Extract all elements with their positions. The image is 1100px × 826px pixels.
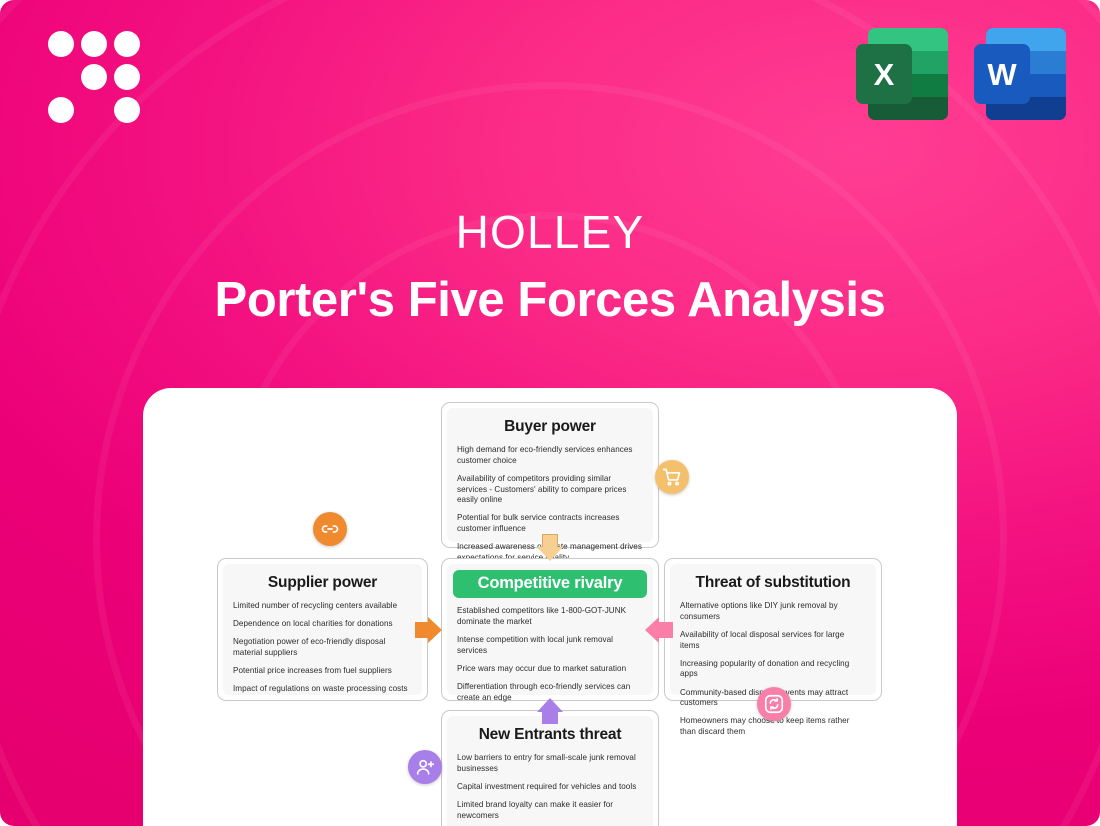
company-name: HOLLEY	[0, 205, 1100, 259]
arrow-supplier-to-rivalry-head	[428, 617, 442, 643]
box-buyer-power[interactable]: Buyer power High demand for eco-friendly…	[441, 402, 659, 548]
supplier-power-title: Supplier power	[233, 574, 412, 592]
list-item: Established competitors like 1-800-GOT-J…	[457, 606, 643, 627]
arrow-substitution-to-rivalry	[659, 622, 673, 638]
arrow-substitution-to-rivalry-head	[645, 617, 659, 643]
buyer-power-title: Buyer power	[457, 418, 643, 436]
box-competitive-rivalry[interactable]: Competitive rivalry Established competit…	[441, 558, 659, 701]
list-item: Limited number of recycling centers avai…	[233, 601, 412, 612]
list-item: Availability of local disposal services …	[680, 630, 866, 651]
box-threat-of-substitution[interactable]: Threat of substitution Alternative optio…	[664, 558, 882, 701]
list-item: Capital investment required for vehicles…	[457, 782, 643, 793]
list-item: Low barriers to entry for small-scale ju…	[457, 753, 643, 774]
arrow-entrants-to-rivalry	[542, 710, 558, 724]
list-item: Impact of regulations on waste processin…	[233, 684, 412, 695]
arrow-entrants-to-rivalry-head	[537, 698, 563, 712]
arrow-supplier-to-rivalry	[415, 622, 429, 638]
list-item: Potential for bulk service contracts inc…	[457, 513, 643, 534]
add-user-icon[interactable]	[408, 750, 442, 784]
box-new-entrants-threat[interactable]: New Entrants threat Low barriers to entr…	[441, 710, 659, 826]
shopping-cart-icon[interactable]	[655, 460, 689, 494]
list-item: Dependence on local charities for donati…	[233, 619, 412, 630]
slide-canvas: X W HOLLEY Porter's Five Forces Analysis	[0, 0, 1100, 826]
box-supplier-power[interactable]: Supplier power Limited number of recycli…	[217, 558, 428, 701]
flevy-dot-logo	[48, 25, 140, 117]
list-item: Intense competition with local junk remo…	[457, 635, 643, 656]
arrow-buyer-to-rivalry	[542, 534, 558, 548]
porters-five-forces-diagram: Buyer power High demand for eco-friendly…	[143, 388, 957, 826]
excel-icon[interactable]: X	[856, 28, 948, 120]
arrow-buyer-to-rivalry-head	[537, 547, 563, 561]
competitive-rivalry-title: Competitive rivalry	[453, 570, 647, 598]
list-item: Availability of competitors providing si…	[457, 474, 643, 506]
word-icon-letter: W	[987, 59, 1016, 90]
list-item: Alternative options like DIY junk remova…	[680, 601, 866, 622]
new-entrants-threat-points: Low barriers to entry for small-scale ju…	[457, 753, 643, 826]
word-icon[interactable]: W	[974, 28, 1066, 120]
page-title: Porter's Five Forces Analysis	[0, 272, 1100, 328]
list-item: Limited brand loyalty can make it easier…	[457, 800, 643, 821]
list-item: Negotiation power of eco-friendly dispos…	[233, 637, 412, 658]
refresh-sync-icon[interactable]	[757, 687, 791, 721]
list-item: High demand for eco-friendly services en…	[457, 445, 643, 466]
new-entrants-threat-title: New Entrants threat	[457, 726, 643, 744]
link-chain-icon[interactable]	[313, 512, 347, 546]
list-item: Price wars may occur due to market satur…	[457, 664, 643, 675]
supplier-power-points: Limited number of recycling centers avai…	[233, 601, 412, 695]
threat-of-substitution-title: Threat of substitution	[680, 574, 866, 592]
diagram-card: Buyer power High demand for eco-friendly…	[143, 388, 957, 826]
list-item: Potential price increases from fuel supp…	[233, 666, 412, 677]
excel-icon-letter: X	[874, 59, 895, 90]
list-item: Increasing popularity of donation and re…	[680, 659, 866, 680]
office-icons: X W	[856, 28, 1066, 120]
